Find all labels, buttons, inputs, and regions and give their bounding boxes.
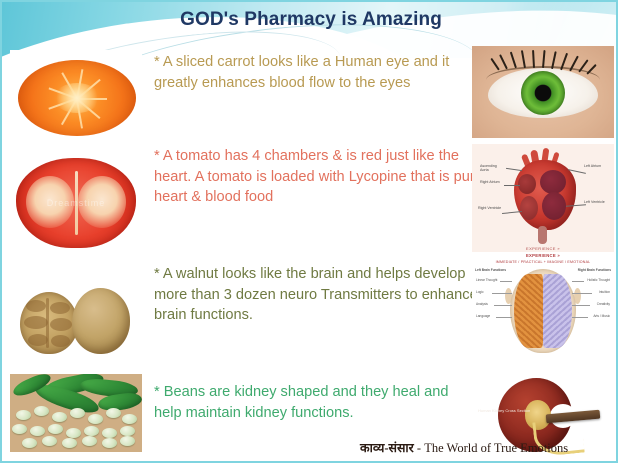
beans-and-pods-image — [10, 374, 142, 452]
point-text-walnut: * A walnut looks like the brain and help… — [154, 264, 484, 326]
watermark-separator: - — [414, 441, 424, 455]
watermark-credit: काव्य-संसार - The World of True Emotions — [360, 439, 568, 456]
heart-label-right-ventricle: Right Ventricle — [478, 206, 502, 210]
brain-hemispheres-image: EXPERIENCE » IMMEDIATE / PRACTICAL + IMA… — [472, 252, 614, 364]
brain-right-item-1: Intuition — [599, 290, 610, 294]
heart-caption: EXPERIENCE » — [472, 246, 614, 251]
heart-label-right-atrium: Right Atrium — [480, 180, 504, 184]
sliced-carrot-image — [10, 50, 142, 146]
brain-right-hemisphere — [543, 274, 572, 348]
heart-right-atrium — [518, 174, 536, 194]
tomato-watermark-text: Dreamstime — [16, 198, 136, 208]
walnut-whole-shell — [72, 288, 130, 354]
brain-left-item-2: Analysis — [476, 302, 488, 306]
brain-title: EXPERIENCE » — [472, 253, 614, 258]
brain-subtitle: IMMEDIATE / PRACTICAL + IMAGINE / EMOTIO… — [472, 260, 614, 264]
skull-outline — [510, 269, 576, 353]
watermark-devanagari: काव्य-संसार — [360, 441, 414, 455]
heart-right-ventricle — [520, 196, 538, 220]
brain-right-item-0: Holistic Thought — [587, 278, 610, 282]
heart-left-atrium — [540, 170, 566, 194]
carrot-core — [54, 83, 100, 113]
tomato-half-shape: Dreamstime — [16, 158, 136, 248]
brain-right-item-3: Arts / Music — [593, 314, 610, 318]
human-eye-image — [472, 46, 614, 138]
brain-right-item-2: Creativity — [597, 302, 610, 306]
carrot-slice-shape — [18, 60, 136, 136]
walnuts-image — [10, 270, 142, 368]
page-title: GOD's Pharmacy is Amazing — [2, 9, 618, 31]
brain-left-heading: Left Brain Functions — [475, 268, 507, 272]
point-text-carrot: * A sliced carrot looks like a Human eye… — [154, 52, 472, 93]
heart-label-left-atrium: Left Atrium — [584, 164, 610, 168]
halved-tomato-image: Dreamstime — [10, 152, 142, 256]
point-text-beans: * Beans are kidney shaped and they heal … — [154, 382, 472, 423]
brain-left-item-1: Logic — [476, 290, 484, 294]
watermark-roman: The World of True Emotions — [424, 441, 568, 455]
kidney-caption: Human Kidney Cross Section — [478, 408, 574, 413]
walnut-halved-kernel — [20, 292, 78, 354]
heart-anatomy-image: Ascending Aorta Right Atrium Right Ventr… — [472, 144, 614, 254]
brain-right-heading: Right Brain Functions — [577, 268, 611, 272]
slide-canvas: GOD's Pharmacy is Amazing Dreamstime — [0, 0, 618, 463]
brain-left-item-0: Linear Thought — [476, 278, 497, 282]
heart-label-left-ventricle: Left Ventricle — [584, 200, 610, 204]
heart-left-ventricle — [542, 192, 566, 220]
point-text-tomato: * A tomato has 4 chambers & is red just … — [154, 146, 484, 208]
eye-upper-lid — [486, 66, 600, 94]
heart-label-ascending-aorta: Ascending Aorta — [480, 164, 506, 173]
brain-left-hemisphere — [514, 274, 543, 348]
heart-muscle — [514, 160, 576, 230]
brain-left-item-3: Language — [476, 314, 490, 318]
